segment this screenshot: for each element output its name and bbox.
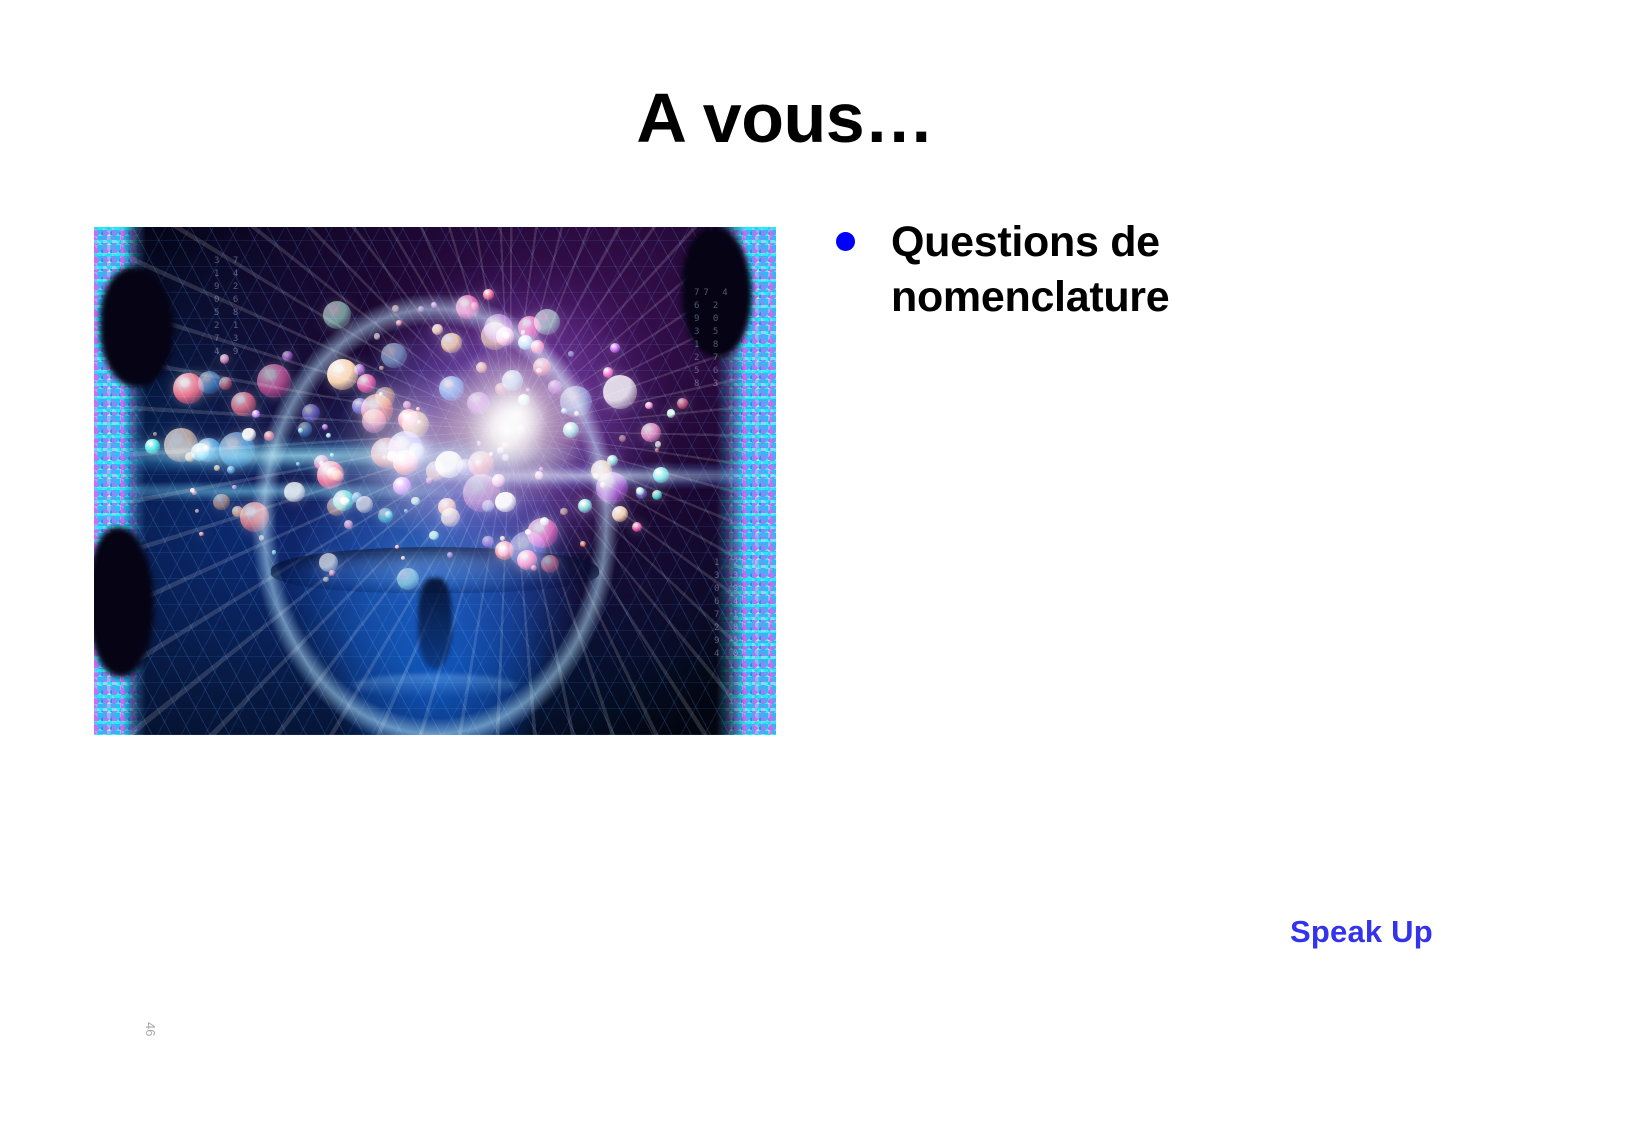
illustration-bubble (282, 351, 292, 361)
illustration-bubble (213, 494, 230, 511)
illustration-bubble (561, 408, 567, 414)
illustration-bubble (319, 461, 324, 466)
illustration-bubble (578, 499, 592, 513)
illustration-bubble (296, 462, 300, 466)
illustration-bubble (259, 535, 265, 541)
illustration-bubble (219, 377, 232, 390)
illustration-bubble (329, 570, 335, 576)
illustration-bubble (392, 305, 399, 312)
illustration-bubble (231, 392, 255, 416)
illustration-bubble (323, 301, 351, 329)
illustration-bubble (526, 388, 530, 392)
illustration-bubble (302, 404, 320, 422)
illustration-bubble (636, 487, 644, 495)
illustration-bubble (323, 577, 329, 583)
page-title: A vous… (0, 82, 1570, 156)
illustration-bubble (603, 375, 637, 409)
list-item[interactable]: Questions de nomenclature (836, 215, 1356, 325)
illustration-bubble (500, 536, 505, 541)
illustration-bubble (677, 398, 688, 409)
illustration-bubble (535, 471, 544, 480)
illustration-bubble (531, 340, 544, 353)
illustration-bubble (501, 442, 508, 449)
illustration-bubble (482, 536, 494, 548)
illustration-bubble (456, 295, 479, 318)
illustration-bubble (219, 432, 255, 468)
illustration-bubble (426, 461, 445, 480)
illustration-bubble (607, 455, 618, 466)
bullet-dot-icon (836, 232, 855, 251)
illustration-bubble (192, 491, 197, 496)
illustration-bubble (483, 289, 493, 299)
illustration-bubble (477, 441, 482, 446)
illustration-edge-blob-top-left (100, 267, 174, 387)
speak-up-label: Speak Up (1290, 914, 1433, 950)
illustration-digit-column-2: 77 4 6 2 9 0 3 5 1 8 2 7 5 6 8 3 (694, 287, 732, 391)
illustration-bubble (533, 358, 551, 376)
illustration-bubble (441, 508, 461, 528)
illustration-bubble (667, 409, 675, 417)
illustration-digit-column-3: 1 2 6 3 3 0 9 6 4 7 1 2 8 9 5 4 0 (714, 557, 761, 661)
illustration-bubble (330, 453, 334, 457)
illustration-bubble (326, 433, 331, 438)
illustration-bubble (411, 497, 419, 505)
illustration-bubble (298, 422, 313, 437)
illustration-bubble (199, 532, 203, 536)
slide-illustration: 3 7 1 4 9 2 0 6 5 8 2 1 7 3 4 9 77 4 6 2… (94, 227, 776, 735)
illustration-molecule-bubbles (94, 227, 776, 735)
illustration-bubble (429, 531, 439, 541)
illustration-bubble (322, 424, 328, 430)
illustration-bubble (333, 490, 354, 511)
illustration-bubble (403, 401, 411, 409)
illustration-bubble (432, 324, 443, 335)
page-number: 46 (143, 1022, 158, 1036)
illustration-bubble (645, 402, 653, 410)
illustration-bubble (492, 474, 505, 487)
illustration-bubble (396, 320, 402, 326)
illustration-bubble (395, 545, 399, 549)
illustration-bubble (357, 374, 376, 393)
illustration-bubble (641, 423, 661, 443)
illustration-bubble (173, 373, 204, 404)
illustration-bubble (379, 366, 384, 371)
illustration-bubble (560, 508, 567, 515)
illustration-bubble (482, 500, 494, 512)
illustration-bubble (516, 425, 525, 434)
illustration-bubble (596, 472, 628, 504)
illustration-bubble (284, 482, 305, 503)
illustration-bubble (381, 343, 407, 369)
illustration-bubble (563, 422, 579, 438)
illustration-bubble (619, 435, 626, 442)
illustration-bubble (327, 359, 359, 391)
illustration-bubble (401, 556, 405, 560)
illustration-bubble (610, 343, 620, 353)
illustration-bubble (531, 565, 537, 571)
illustration-bubble (393, 477, 411, 495)
illustration-bubble (418, 306, 423, 311)
illustration-bubble (655, 441, 662, 448)
illustration-bubble (416, 407, 421, 412)
illustration-bubble (540, 517, 549, 526)
illustration-bubble (502, 370, 523, 391)
illustration-bubble (145, 439, 159, 453)
illustration-bubble (257, 364, 291, 398)
illustration-bubble (153, 432, 157, 436)
illustration-bubble (495, 492, 516, 513)
illustration-bubble (240, 502, 269, 531)
illustration-bubble (441, 333, 462, 354)
bullet-item-label: Questions de nomenclature (891, 215, 1356, 325)
content-bullet-list: Questions de nomenclature (836, 215, 1356, 325)
illustration-bubble (397, 568, 419, 590)
illustration-bubble (580, 541, 586, 547)
illustration-bubble (447, 552, 453, 558)
illustration-bubble (632, 522, 642, 532)
illustration-bubble (352, 398, 368, 414)
illustration-bubble (655, 448, 659, 452)
illustration-bubble (404, 509, 408, 513)
illustration-bubble (541, 555, 559, 573)
illustration-bubble (272, 550, 277, 555)
illustration-bubble (525, 529, 531, 535)
illustration-bubble (214, 465, 219, 470)
illustration-bubble (612, 506, 629, 523)
illustration-bubble (653, 467, 669, 483)
illustration-bubble (502, 454, 508, 460)
illustration-bubble (371, 438, 402, 469)
illustration-bubble (431, 302, 437, 308)
illustration-bubble (264, 431, 273, 440)
illustration-bubble (652, 490, 662, 500)
illustration-bubble (232, 485, 236, 489)
illustration-bubble (374, 333, 381, 340)
illustration-bubble (319, 553, 338, 572)
illustration-bubble (518, 394, 530, 406)
illustration-bubble (439, 376, 464, 401)
illustration-bubble (344, 520, 353, 529)
illustration-bubble (195, 509, 199, 513)
illustration-bubble (467, 392, 489, 414)
illustration-bubble (568, 351, 573, 356)
illustration-bubble (548, 380, 562, 394)
illustration-digit-column-1: 3 7 1 4 9 2 0 6 5 8 2 1 7 3 4 9 (214, 255, 242, 359)
illustration-bubble (476, 362, 487, 373)
